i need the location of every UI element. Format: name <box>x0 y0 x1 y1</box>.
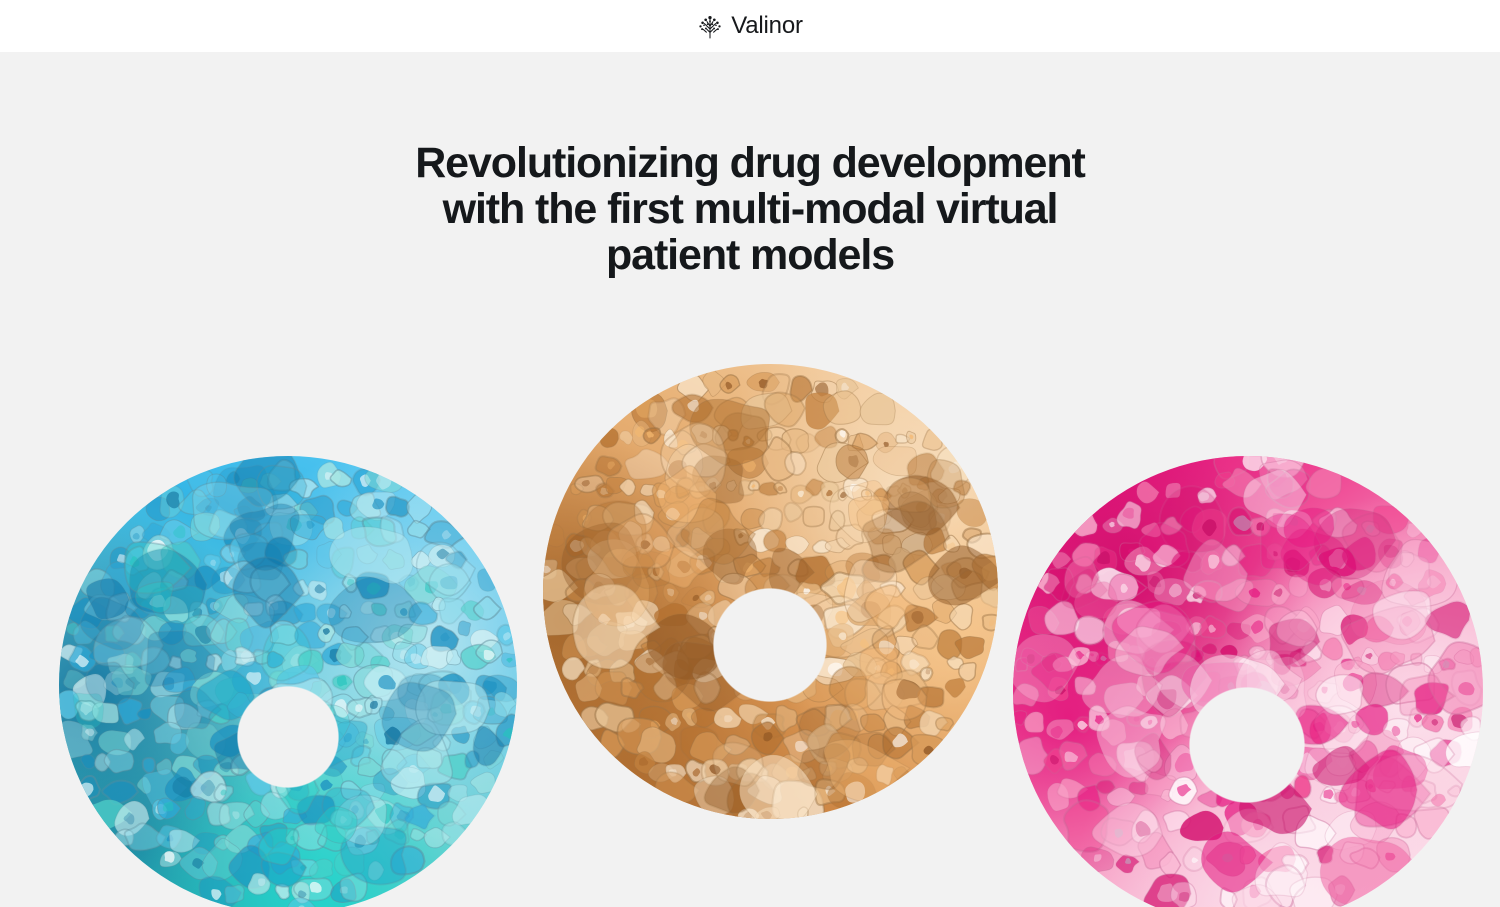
amber-cell-disc <box>542 363 999 820</box>
magenta-cell-disc <box>1012 455 1484 907</box>
brand-name: Valinor <box>731 14 803 38</box>
blue-cell-disc <box>58 455 518 907</box>
disc-gallery <box>0 52 1500 907</box>
brand-logo-link[interactable]: Valinor <box>697 12 803 40</box>
hero-section: Revolutionizing drug development with th… <box>0 52 1500 907</box>
tree-logo-icon <box>697 12 723 40</box>
site-header: Valinor <box>0 0 1500 52</box>
page-root: Valinor Revolutionizing drug development… <box>0 0 1500 907</box>
